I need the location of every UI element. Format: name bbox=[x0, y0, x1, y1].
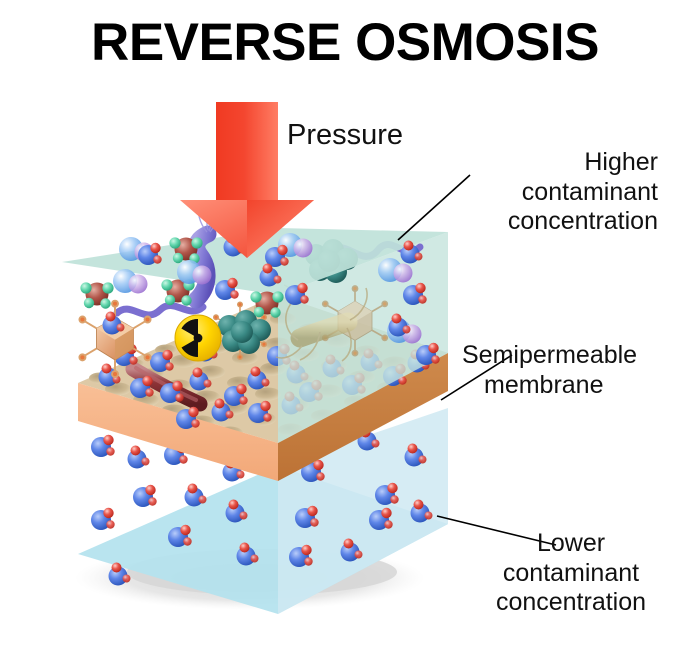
radioactive-particle bbox=[175, 315, 221, 361]
higher-line-1: Higher bbox=[468, 148, 658, 178]
leader-line-higher bbox=[398, 175, 470, 240]
lower-line-2: contaminant bbox=[478, 559, 664, 589]
pressure-label: Pressure bbox=[287, 118, 403, 152]
lower-concentration-label: Lower contaminant concentration bbox=[478, 529, 664, 618]
lower-line-3: concentration bbox=[478, 588, 664, 618]
lower-line-1: Lower bbox=[478, 529, 664, 559]
membrane-line-2: membrane bbox=[462, 371, 682, 401]
membrane-line-1: Semipermeable bbox=[462, 341, 682, 371]
higher-line-2: contaminant bbox=[468, 178, 658, 208]
semipermeable-membrane-label: Semipermeable membrane bbox=[462, 341, 682, 400]
higher-concentration-label: Higher contaminant concentration bbox=[468, 148, 658, 237]
diagram-canvas: REVERSE OSMOSIS bbox=[0, 0, 690, 656]
higher-line-3: concentration bbox=[468, 207, 658, 237]
